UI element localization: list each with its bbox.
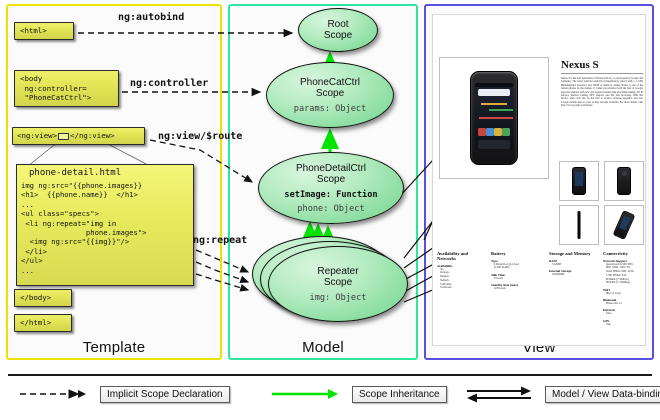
- legend: Implicit Scope Declaration Scope Inherit…: [8, 384, 652, 406]
- phone-tilted-icon: [613, 210, 636, 240]
- label-ng-repeat: ng:repeat: [193, 235, 247, 246]
- phone-device-icon: [470, 71, 518, 165]
- phone-front-icon: [572, 167, 586, 195]
- legend-item-data-binding: Model / View Data-binding: [463, 384, 660, 404]
- app-icon-1: [478, 128, 486, 136]
- scope-phonedetailctrl-line2: Scope: [317, 174, 345, 186]
- screen-stripe-1: [481, 103, 507, 105]
- panel-template-label: Template: [8, 339, 220, 356]
- label-ng-autobind: ng:autobind: [118, 12, 184, 23]
- scope-phonecatctrl-line1: PhoneCatCtrl: [300, 77, 360, 89]
- code-body-close: </body>: [14, 289, 72, 307]
- diagram-canvas: Template Model View: [0, 0, 660, 420]
- thumbnail-phone-side[interactable]: [559, 205, 599, 245]
- spec-column-availability: Availability and Networks Availability 3…: [437, 251, 477, 290]
- spec-header-connectivity: Connectivity: [603, 251, 646, 256]
- phone-hero-image: [439, 57, 549, 179]
- scope-repeater: Repeater Scope img: Object: [268, 246, 408, 322]
- app-icon-4: [502, 128, 510, 136]
- ngview-placeholder-icon: [58, 133, 69, 140]
- thumbnail-phone-front[interactable]: [559, 161, 599, 201]
- phone-side-icon: [578, 211, 581, 239]
- spec-header-storage: Storage and Memory: [549, 251, 599, 256]
- thumbnail-grid: [559, 161, 645, 245]
- scope-root: Root Scope: [298, 8, 378, 52]
- rendered-phone-detail-page: Nexus S Nexus S is the next generation o…: [432, 14, 646, 346]
- scope-phonedetailctrl: PhoneDetailCtrl Scope setImage: Function…: [258, 152, 404, 224]
- spec-value-network: Quad-band GSM: 850, 900, 1800, 1900 Tri-…: [603, 263, 646, 286]
- legend-label-scope-inheritance: Scope Inheritance: [352, 386, 447, 403]
- spec-header-availability: Availability and Networks: [437, 251, 477, 261]
- scope-phonedetailctrl-prop-phone: phone: Object: [297, 204, 364, 214]
- scope-root-line1: Root: [327, 19, 348, 31]
- code-ngview: <ng:view></ng:view>: [12, 127, 145, 145]
- spec-value-internal-storage: 16384MB: [549, 273, 599, 277]
- thumbnail-phone-back[interactable]: [604, 161, 644, 201]
- spec-column-connectivity: Connectivity Network Support Quad-band G…: [603, 251, 646, 326]
- double-arrow-icon: [463, 384, 537, 404]
- title-divider: [561, 73, 643, 74]
- scope-root-line2: Scope: [324, 30, 352, 42]
- spec-value-ram: 512MB: [549, 263, 599, 267]
- spec-value-gps: true: [603, 323, 646, 327]
- spec-value-infrared: false: [603, 312, 646, 316]
- scope-phonedetailctrl-prop-setimage: setImage: Function: [284, 190, 377, 200]
- app-icon-row: [478, 128, 510, 138]
- code-html-open: <html>: [14, 22, 74, 40]
- dashed-arrow-icon: [18, 384, 92, 404]
- label-ng-controller: ng:controller: [130, 78, 208, 89]
- phone-title: Nexus S: [561, 59, 599, 71]
- panel-model-label: Model: [230, 339, 416, 356]
- app-icon-2: [486, 128, 494, 136]
- screen-stripe-2: [489, 109, 513, 111]
- legend-label-data-binding: Model / View Data-binding: [545, 386, 660, 403]
- scope-repeater-line2: Scope: [324, 277, 352, 289]
- legend-label-implicit-scope: Implicit Scope Declaration: [100, 386, 230, 403]
- spec-column-battery: Battery Type Lithium Ion (Li-Ion) (1500 …: [491, 251, 545, 291]
- thumbnail-phone-tilted[interactable]: [604, 205, 644, 245]
- scope-phonecatctrl-line2: Scope: [316, 88, 344, 100]
- legend-item-implicit-scope: Implicit Scope Declaration: [18, 384, 230, 404]
- spec-value-battery-standby: 428 hours: [491, 287, 545, 291]
- code-html-close: </html>: [14, 314, 72, 332]
- spec-column-storage: Storage and Memory RAM 512MB Internal St…: [549, 251, 599, 277]
- label-ng-view-route: ng:view/$route: [158, 131, 242, 142]
- spec-value-battery-type: Lithium Ion (Li-Ion) (1500 mAH): [491, 263, 545, 271]
- scope-phonecatctrl-prop-params: params: Object: [294, 104, 366, 114]
- phone-detail-note: phone-detail.html img ng:src="{{phone.im…: [16, 164, 194, 286]
- note-title: phone-detail.html: [17, 165, 193, 180]
- green-arrow-icon: [270, 384, 344, 404]
- scope-repeater-prop-img: img: Object: [310, 293, 367, 303]
- code-body-open: <body ng:controller= "PhoneCatCtrl">: [14, 70, 119, 107]
- note-code: img ng:src="{{phone.images}} <h1> {{phon…: [17, 180, 193, 275]
- ngview-open-tag: <ng:view>: [17, 131, 57, 140]
- app-icon-3: [494, 128, 502, 136]
- phone-back-icon: [617, 167, 631, 195]
- spec-table: Availability and Networks Availability 3…: [437, 251, 643, 323]
- legend-item-scope-inheritance: Scope Inheritance: [270, 384, 447, 404]
- scope-repeater-line1: Repeater: [317, 266, 358, 278]
- dock-bar: [478, 140, 510, 149]
- ngview-close-tag: </ng:view>: [70, 131, 115, 140]
- spec-value-battery-talk: 6 hours: [491, 277, 545, 281]
- phone-description: Nexus S is the next generation of Nexus …: [561, 77, 643, 108]
- spec-value-availability: 3G Orange, Singtel, Suburb, T-Mobile, Vo…: [437, 268, 477, 291]
- legend-divider: [8, 374, 652, 376]
- scope-phonecatctrl: PhoneCatCtrl Scope params: Object: [266, 62, 394, 128]
- spec-value-wifi: 802.11 b/g/n: [603, 292, 646, 296]
- screen-stripe-3: [479, 117, 513, 119]
- spec-header-battery: Battery: [491, 251, 545, 256]
- phone-screen: [475, 83, 513, 150]
- spec-value-bluetooth: Bluetooth 2.1: [603, 302, 646, 306]
- scope-phonedetailctrl-line1: PhoneDetailCtrl: [296, 163, 366, 175]
- status-bar: [475, 83, 513, 87]
- search-widget-icon: [478, 89, 510, 96]
